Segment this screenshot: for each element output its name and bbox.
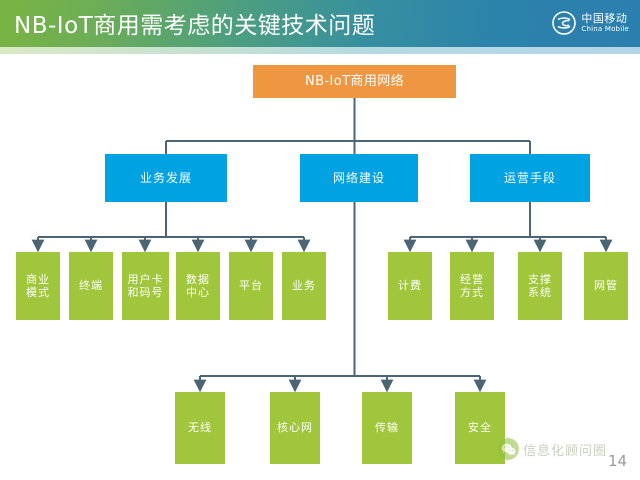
node-network-management[interactable]: 网管 [584, 252, 628, 320]
china-mobile-logo-icon [552, 11, 576, 35]
node-platform[interactable]: 平台 [229, 252, 273, 320]
logo-name-en: China Mobile [581, 26, 629, 33]
node-service[interactable]: 业务 [282, 252, 326, 320]
node-root[interactable]: NB-IoT商用网络 [253, 65, 456, 98]
node-core-network[interactable]: 核心网 [270, 392, 320, 464]
china-mobile-logo: 中国移动 China Mobile [552, 9, 629, 37]
tree-diagram: NB-IoT商用网络 业务发展 网络建设 运营手段 商业 模式 终端 用户卡 和… [0, 54, 640, 480]
node-support-system[interactable]: 支撑 系统 [518, 252, 562, 320]
page-title: NB-IoT商用需考虑的关键技术问题 [14, 6, 375, 40]
page-number: 14 [608, 452, 627, 470]
node-billing[interactable]: 计费 [388, 252, 432, 320]
node-operation-means[interactable]: 运营手段 [470, 154, 590, 202]
node-business-mode[interactable]: 经营 方式 [450, 252, 494, 320]
logo-name-cn: 中国移动 [581, 13, 629, 24]
node-wireless[interactable]: 无线 [175, 392, 225, 464]
node-transmission[interactable]: 传输 [362, 392, 412, 464]
node-sim-and-number[interactable]: 用户卡 和码号 [122, 252, 169, 320]
wechat-icon [497, 438, 519, 460]
watermark-text: 信息化顾问圈 [523, 440, 607, 459]
node-data-center[interactable]: 数据 中心 [176, 252, 220, 320]
header-accent-bar [0, 47, 640, 54]
node-network-construction[interactable]: 网络建设 [300, 154, 418, 202]
node-business-development[interactable]: 业务发展 [105, 154, 227, 202]
node-business-model[interactable]: 商业 模式 [16, 252, 60, 320]
watermark: 信息化顾问圈 [497, 438, 607, 460]
node-terminal[interactable]: 终端 [69, 252, 113, 320]
